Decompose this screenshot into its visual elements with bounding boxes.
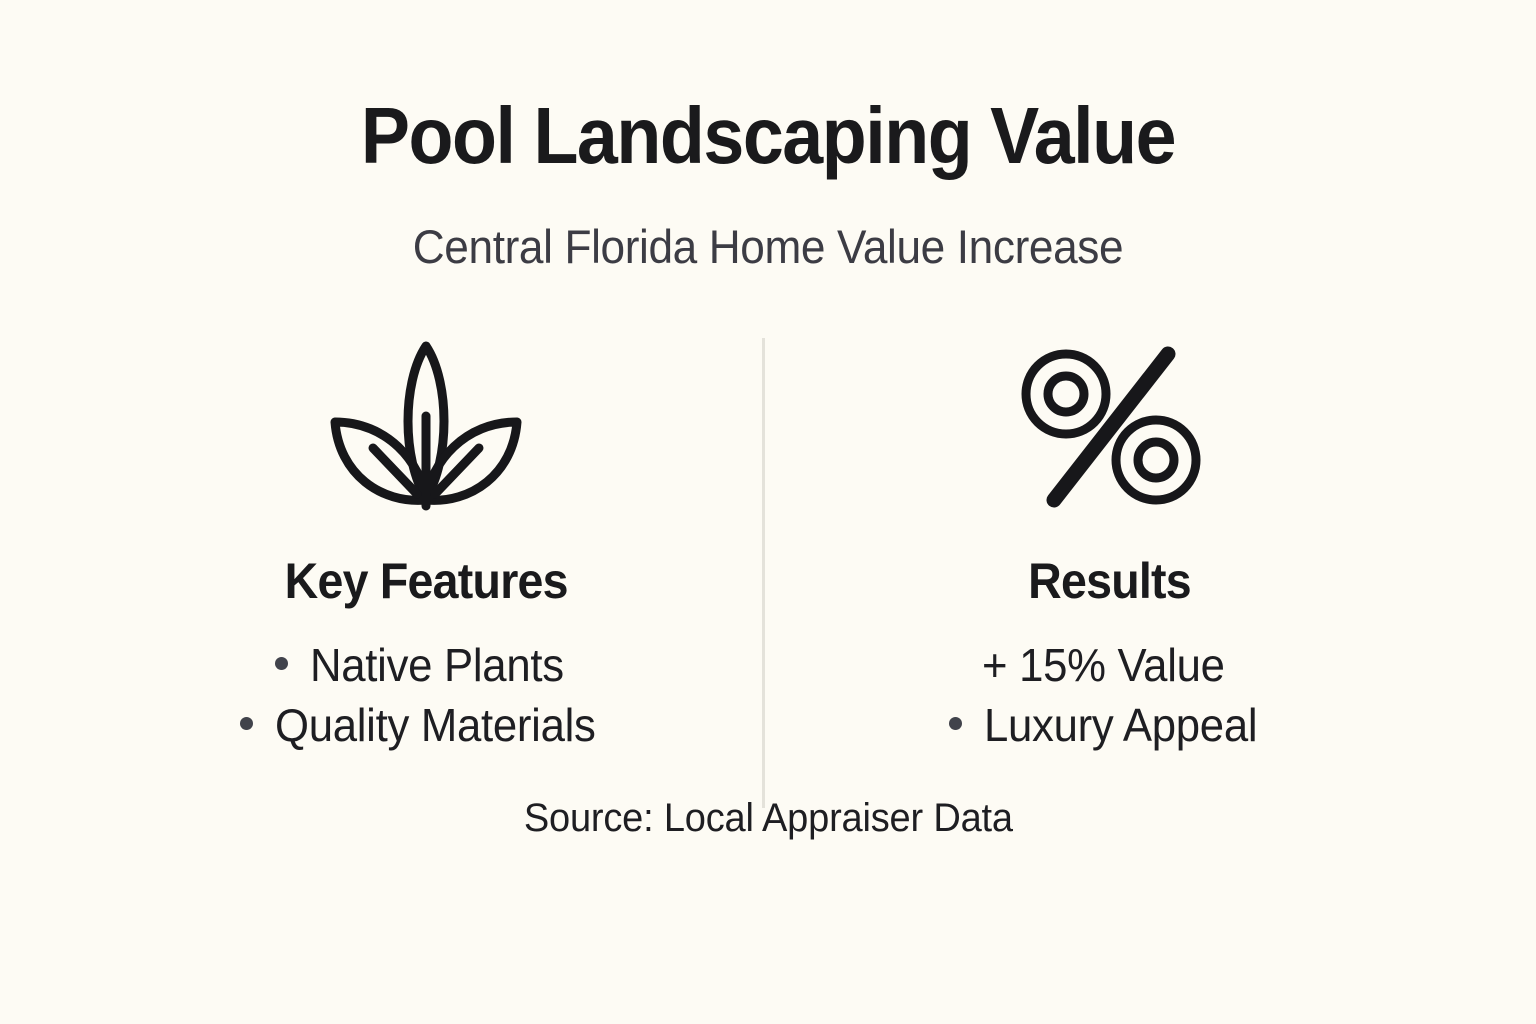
list-item-label: + 15% Value [982,642,1225,688]
list-item-label: Quality Materials [275,702,596,748]
list-item: + 15% Value [982,642,1237,688]
list-item-label: Luxury Appeal [984,702,1257,748]
list-item: Native Plants [275,642,577,688]
list-item-label: Native Plants [310,642,564,688]
section-heading-key-features: Key Features [284,556,567,606]
list-item: Luxury Appeal [949,702,1272,748]
column-results: Results + 15% Value Luxury Appeal [840,338,1380,748]
columns-section: Key Features Native Plants Quality Mater… [0,338,1536,748]
source-caption: Source: Local Appraiser Data [524,796,1013,841]
column-key-features: Key Features Native Plants Quality Mater… [156,338,696,748]
bullet-dot-icon [275,657,288,670]
header: Pool Landscaping Value Central Florida H… [0,96,1536,270]
infographic-card: Pool Landscaping Value Central Florida H… [0,0,1536,1024]
feature-list: Native Plants Quality Materials [240,642,612,748]
results-list: + 15% Value Luxury Appeal [949,642,1272,748]
leaf-plant-icon [321,338,531,514]
page-subtitle: Central Florida Home Value Increase [46,223,1490,270]
page-title: Pool Landscaping Value [61,96,1474,176]
bullet-dot-icon [240,717,253,730]
bullet-dot-icon [949,717,962,730]
section-heading-results: Results [1029,556,1192,606]
column-divider [762,338,765,808]
list-item: Quality Materials [240,702,612,748]
percent-icon [1010,338,1210,514]
